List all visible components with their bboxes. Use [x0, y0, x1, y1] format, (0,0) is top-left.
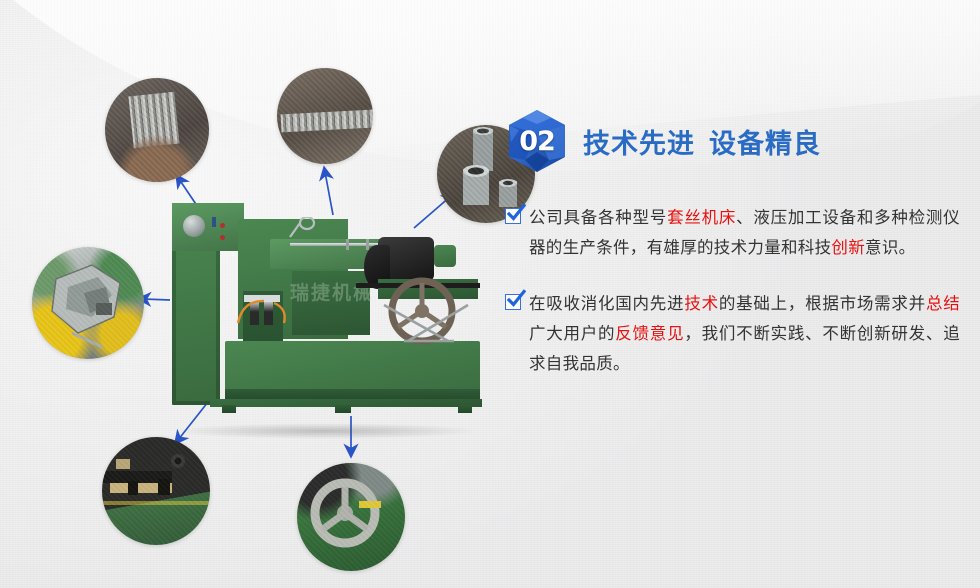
badge-number: 02 [505, 108, 569, 174]
page-title: 技术先进设备精良 [583, 122, 821, 161]
section-header: 02 技术先进设备精良 [505, 105, 960, 177]
handwheel-photo [297, 463, 405, 571]
list-item: 公司具备各种型号套丝机床、液压加工设备和多种检测仪器的生产条件，有雄厚的技术力量… [505, 203, 960, 263]
hexagon-gem-icon: 02 [505, 108, 569, 174]
die-head-assembly-photo [32, 247, 144, 359]
checkbox-checked-icon [505, 292, 525, 312]
machine-shadow [170, 423, 480, 439]
hydraulic-fittings-photo [102, 437, 210, 545]
promo-banner: 瑞捷机械 [0, 0, 980, 588]
bullet-text-2: 在吸收消化国内先进技术的基础上，根据市场需求并总结广大用户的反馈意见，我们不断实… [529, 289, 960, 379]
bullet-text-1: 公司具备各种型号套丝机床、液压加工设备和多种检测仪器的生产条件，有雄厚的技术力量… [529, 203, 960, 263]
list-item: 在吸收消化国内先进技术的基础上，根据市场需求并总结广大用户的反馈意见，我们不断实… [505, 289, 960, 379]
content-panel: 02 技术先进设备精良 公司具备各种型号套丝机床、液压加工设备和多种检测仪器的生… [505, 105, 960, 405]
bullet-list: 公司具备各种型号套丝机床、液压加工设备和多种检测仪器的生产条件，有雄厚的技术力量… [505, 203, 960, 379]
title-part-1: 技术先进 [583, 129, 695, 160]
title-part-2: 设备精良 [709, 129, 821, 160]
threaded-rod-end-photo [105, 78, 209, 182]
threaded-bar-photo [277, 68, 373, 164]
checkbox-checked-icon [505, 206, 525, 226]
